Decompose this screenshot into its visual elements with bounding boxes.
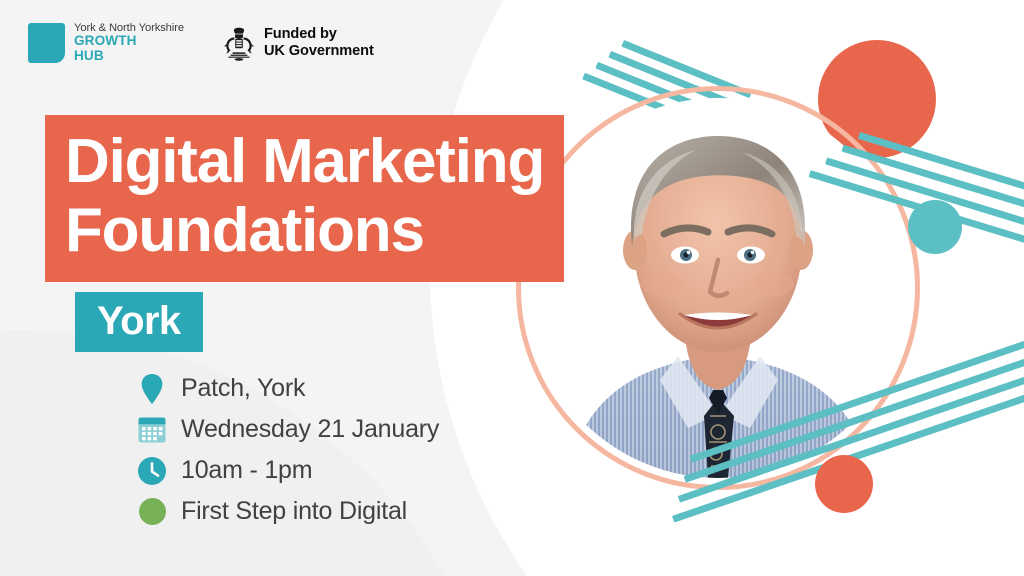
detail-row-time: 10am - 1pm xyxy=(137,454,439,487)
location-badge-label: York xyxy=(97,300,181,342)
logo-bar: York & North Yorkshire GROWTH HUB xyxy=(28,22,374,63)
green-dot xyxy=(139,498,166,525)
york-north-yorkshire-growth-hub-logo[interactable]: York & North Yorkshire GROWTH HUB xyxy=(28,22,184,63)
detail-text-venue: Patch, York xyxy=(181,374,305,403)
calendar-icon xyxy=(137,415,167,445)
growth-hub-wordmark: York & North Yorkshire GROWTH HUB xyxy=(74,22,184,63)
teal-circle-right-icon xyxy=(908,200,962,254)
funded-by-uk-government-logo[interactable]: Funded by UK Government xyxy=(222,25,374,61)
growth-hub-line-3: HUB xyxy=(74,49,184,64)
event-details-list: Patch, York xyxy=(137,372,439,528)
location-badge: York xyxy=(75,292,203,352)
event-title-block: Digital Marketing Foundations xyxy=(45,115,564,282)
funded-by-line-2: UK Government xyxy=(264,43,374,59)
clock-icon xyxy=(137,456,167,486)
detail-text-time: 10am - 1pm xyxy=(181,456,312,485)
detail-row-programme: First Step into Digital xyxy=(137,495,439,528)
orange-circle-bottom-icon xyxy=(815,455,873,513)
uk-government-wordmark: Funded by UK Government xyxy=(264,26,374,59)
detail-text-programme: First Step into Digital xyxy=(181,497,407,526)
map-pin-icon xyxy=(137,374,167,404)
royal-coat-of-arms-icon xyxy=(222,25,256,61)
circle-icon xyxy=(137,497,167,527)
detail-row-date: Wednesday 21 January xyxy=(137,413,439,446)
event-title-line-2: Foundations xyxy=(65,196,544,265)
growth-hub-line-2: GROWTH xyxy=(74,34,184,49)
detail-row-venue: Patch, York xyxy=(137,372,439,405)
funded-by-line-1: Funded by xyxy=(264,26,374,42)
detail-text-date: Wednesday 21 January xyxy=(181,415,439,444)
growth-hub-mark-icon xyxy=(28,23,65,63)
event-poster: York & North Yorkshire GROWTH HUB xyxy=(0,0,1024,576)
event-title-line-1: Digital Marketing xyxy=(65,127,544,196)
